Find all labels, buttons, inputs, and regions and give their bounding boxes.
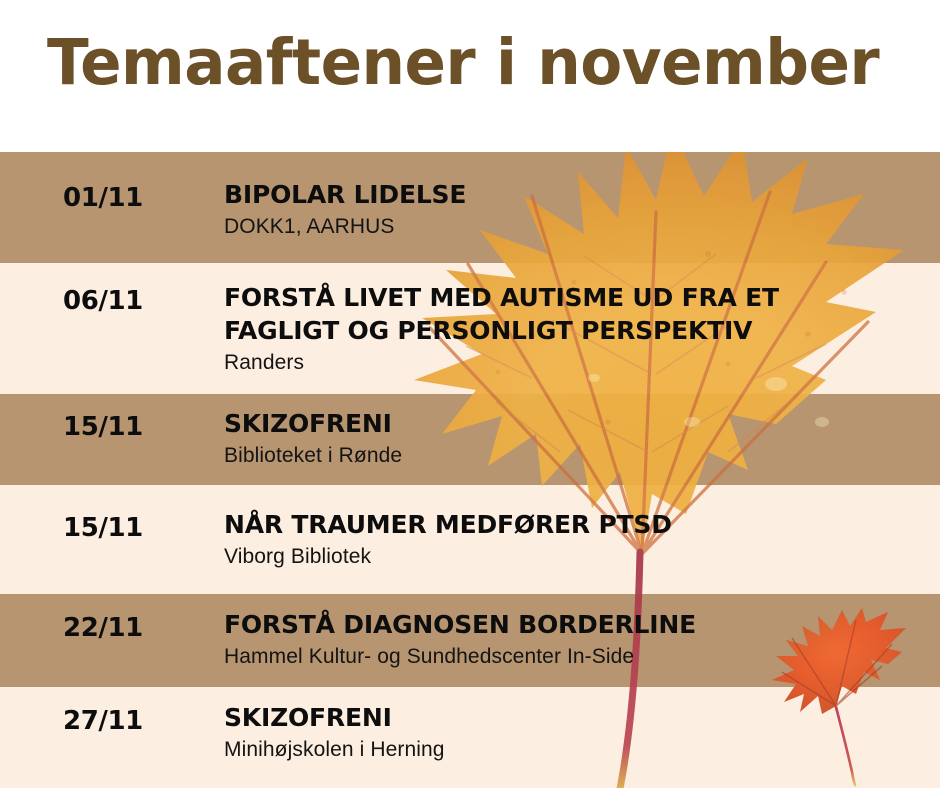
poster-header: Temaaftener i november: [0, 0, 940, 152]
event-title: BIPOLAR LIDELSE: [224, 178, 930, 211]
event-row-1: 01/11 BIPOLAR LIDELSE DOKK1, AARHUS: [0, 152, 940, 263]
event-venue: DOKK1, AARHUS: [224, 213, 930, 240]
event-title: SKIZOFRENI: [224, 407, 930, 440]
event-venue: Minihøjskolen i Herning: [224, 736, 930, 763]
event-venue: Randers: [224, 349, 930, 376]
event-title: NÅR TRAUMER MEDFØRER PTSD: [224, 508, 930, 541]
event-row-6: 27/11 SKIZOFRENI Minihøjskolen i Herning: [0, 687, 940, 788]
event-details: FORSTÅ DIAGNOSEN BORDERLINE Hammel Kultu…: [224, 608, 930, 670]
event-details: SKIZOFRENI Biblioteket i Rønde: [224, 407, 930, 469]
event-details: NÅR TRAUMER MEDFØRER PTSD Viborg Bibliot…: [224, 508, 930, 570]
event-details: BIPOLAR LIDELSE DOKK1, AARHUS: [224, 178, 930, 240]
event-date: 22/11: [63, 613, 143, 643]
event-row-4: 15/11 NÅR TRAUMER MEDFØRER PTSD Viborg B…: [0, 485, 940, 594]
event-venue: Hammel Kultur- og Sundhedscenter In-Side: [224, 643, 930, 670]
event-title: FORSTÅ DIAGNOSEN BORDERLINE: [224, 608, 930, 641]
event-details: FORSTÅ LIVET MED AUTISME UD FRA ET FAGLI…: [224, 281, 930, 376]
event-date: 27/11: [63, 706, 143, 736]
event-venue: Viborg Bibliotek: [224, 543, 930, 570]
event-row-3: 15/11 SKIZOFRENI Biblioteket i Rønde: [0, 394, 940, 485]
event-title: SKIZOFRENI: [224, 701, 930, 734]
event-row-5: 22/11 FORSTÅ DIAGNOSEN BORDERLINE Hammel…: [0, 594, 940, 687]
event-date: 15/11: [63, 513, 143, 543]
event-date: 15/11: [63, 412, 143, 442]
event-row-2: 06/11 FORSTÅ LIVET MED AUTISME UD FRA ET…: [0, 263, 940, 394]
page-title: Temaaftener i november: [47, 26, 879, 99]
event-date: 06/11: [63, 286, 143, 316]
event-details: SKIZOFRENI Minihøjskolen i Herning: [224, 701, 930, 763]
event-date: 01/11: [63, 183, 143, 213]
event-venue: Biblioteket i Rønde: [224, 442, 930, 469]
poster: Temaaftener i november 01/11 BIPOLAR LID…: [0, 0, 940, 788]
event-title: FORSTÅ LIVET MED AUTISME UD FRA ET FAGLI…: [224, 281, 930, 347]
